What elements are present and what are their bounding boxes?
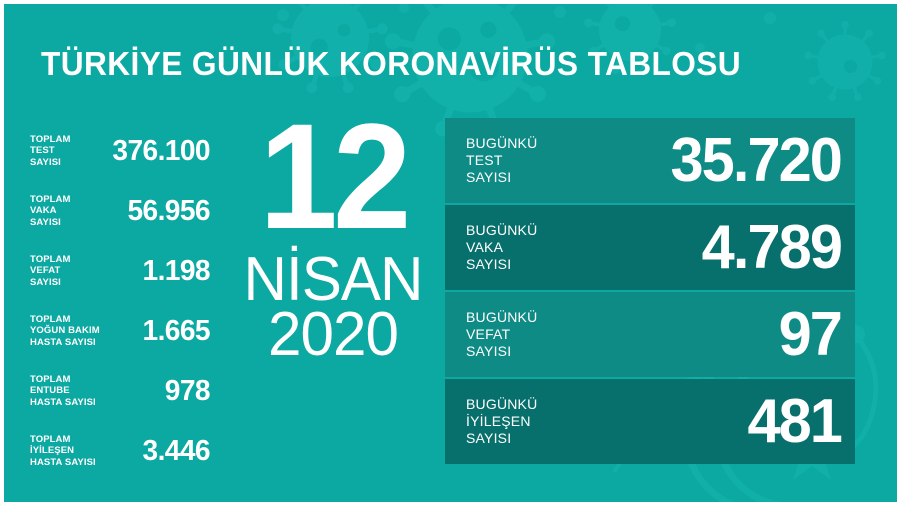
daily-label-line1: BUGÜNKÜ xyxy=(466,396,586,413)
daily-label-line1: BUGÜNKÜ xyxy=(466,135,586,152)
total-label-line2: VEFAT xyxy=(30,265,102,277)
total-stat-label: TOPLAM VEFAT SAYISI xyxy=(30,254,102,289)
total-label-line1: TOPLAM xyxy=(30,374,102,386)
total-stat-label: TOPLAM VAKA SAYISI xyxy=(30,194,102,229)
daily-stat-value: 481 xyxy=(596,391,841,453)
daily-figures-list: BUGÜNKÜ TEST SAYISI 35.720 BUGÜNKÜ VAKA … xyxy=(445,118,855,466)
total-stat-label: TOPLAM TEST SAYISI xyxy=(30,134,102,169)
coronavirus-particle-icon xyxy=(804,21,887,102)
total-label-line1: TOPLAM xyxy=(30,134,102,146)
total-label-line1: TOPLAM xyxy=(30,194,102,206)
total-stat-row: TOPLAM ENTUBE HASTA SAYISI 978 xyxy=(30,361,210,421)
report-date: 12 NİSAN 2020 xyxy=(228,104,438,363)
daily-stat-label: BUGÜNKÜ TEST SAYISI xyxy=(466,135,586,186)
coronavirus-daily-table-infographic: TÜRKİYE GÜNLÜK KORONAVİRÜS TABLOSU TOPLA… xyxy=(0,0,900,505)
daily-label-line1: BUGÜNKÜ xyxy=(466,309,586,326)
total-label-line3: HASTA SAYISI xyxy=(30,337,102,349)
daily-stat-label: BUGÜNKÜ VAKA SAYISI xyxy=(466,222,586,273)
daily-stat-label: BUGÜNKÜ VEFAT SAYISI xyxy=(466,309,586,360)
total-label-line1: TOPLAM xyxy=(30,254,102,266)
daily-label-line2: İYİLEŞEN xyxy=(466,413,586,430)
total-stat-row: TOPLAM TEST SAYISI 376.100 xyxy=(30,121,210,181)
total-stat-row: TOPLAM YOĞUN BAKIM HASTA SAYISI 1.665 xyxy=(30,301,210,361)
daily-label-line2: VEFAT xyxy=(466,326,586,343)
daily-stat-value: 4.789 xyxy=(596,217,841,279)
daily-label-line3: SAYISI xyxy=(466,343,586,360)
daily-label-line3: SAYISI xyxy=(466,169,586,186)
total-label-line2: İYİLEŞEN xyxy=(30,445,102,457)
total-label-line2: VAKA xyxy=(30,205,102,217)
total-stat-value: 376.100 xyxy=(105,137,210,166)
total-label-line3: SAYISI xyxy=(30,157,102,169)
daily-stat-box: BUGÜNKÜ İYİLEŞEN SAYISI 481 xyxy=(445,379,855,464)
daily-label-line3: SAYISI xyxy=(466,430,586,447)
cumulative-totals-list: TOPLAM TEST SAYISI 376.100 TOPLAM VAKA S… xyxy=(30,121,210,481)
daily-stat-label: BUGÜNKÜ İYİLEŞEN SAYISI xyxy=(466,396,586,447)
daily-stat-box: BUGÜNKÜ TEST SAYISI 35.720 xyxy=(445,118,855,203)
total-stat-value: 56.956 xyxy=(105,197,210,226)
total-stat-label: TOPLAM YOĞUN BAKIM HASTA SAYISI xyxy=(30,314,102,349)
total-stat-value: 3.446 xyxy=(105,437,210,466)
daily-label-line1: BUGÜNKÜ xyxy=(466,222,586,239)
total-label-line1: TOPLAM xyxy=(30,314,102,326)
daily-label-line2: VAKA xyxy=(466,239,586,256)
total-stat-row: TOPLAM İYİLEŞEN HASTA SAYISI 3.446 xyxy=(30,421,210,481)
total-label-line3: SAYISI xyxy=(30,277,102,289)
page-title: TÜRKİYE GÜNLÜK KORONAVİRÜS TABLOSU xyxy=(41,47,741,80)
total-label-line2: TEST xyxy=(30,145,102,157)
date-year: 2020 xyxy=(231,306,435,363)
total-stat-label: TOPLAM ENTUBE HASTA SAYISI xyxy=(30,374,102,409)
total-stat-value: 1.198 xyxy=(105,257,210,286)
frame-edge-left xyxy=(0,0,4,505)
total-label-line2: ENTUBE xyxy=(30,385,102,397)
total-stat-value: 978 xyxy=(105,377,210,406)
total-label-line3: SAYISI xyxy=(30,217,102,229)
total-label-line2: YOĞUN BAKIM xyxy=(30,325,102,337)
daily-stat-box: BUGÜNKÜ VAKA SAYISI 4.789 xyxy=(445,205,855,290)
daily-label-line2: TEST xyxy=(466,152,586,169)
daily-label-line3: SAYISI xyxy=(466,256,586,273)
daily-stat-value: 35.720 xyxy=(596,130,841,192)
total-label-line3: HASTA SAYISI xyxy=(30,457,102,469)
date-month: NİSAN xyxy=(231,254,435,306)
total-label-line3: HASTA SAYISI xyxy=(30,397,102,409)
total-stat-value: 1.665 xyxy=(105,317,210,346)
total-stat-row: TOPLAM VEFAT SAYISI 1.198 xyxy=(30,241,210,301)
daily-stat-value: 97 xyxy=(596,304,841,366)
date-day: 12 xyxy=(234,104,431,250)
total-label-line1: TOPLAM xyxy=(30,434,102,446)
daily-stat-box: BUGÜNKÜ VEFAT SAYISI 97 xyxy=(445,292,855,377)
frame-edge-top xyxy=(0,0,900,4)
total-stat-label: TOPLAM İYİLEŞEN HASTA SAYISI xyxy=(30,434,102,469)
total-stat-row: TOPLAM VAKA SAYISI 56.956 xyxy=(30,181,210,241)
